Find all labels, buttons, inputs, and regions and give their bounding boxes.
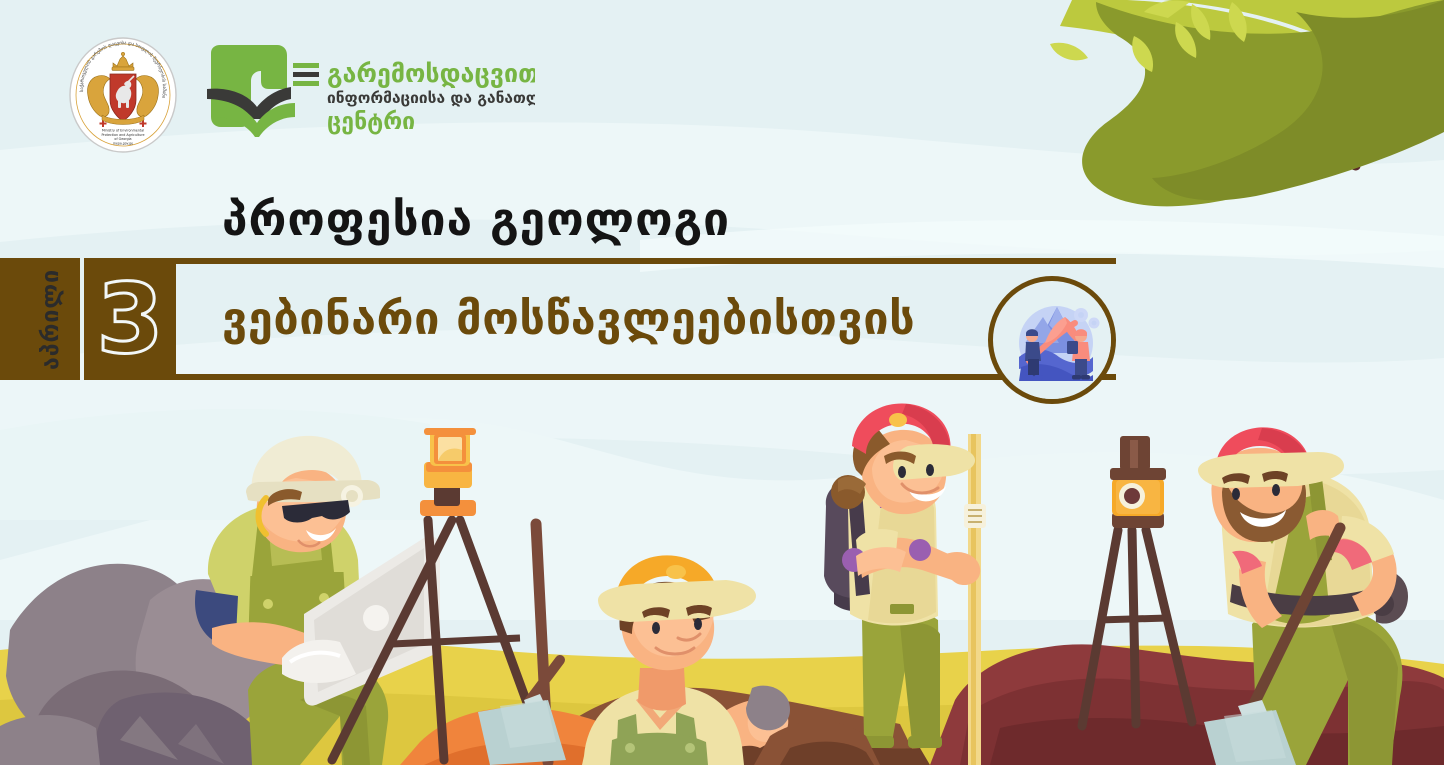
poster-canvas: საქართველოს გარემოს დაცვისა და სოფლის მე… bbox=[0, 0, 1444, 765]
field-work-illustration bbox=[0, 0, 1444, 765]
